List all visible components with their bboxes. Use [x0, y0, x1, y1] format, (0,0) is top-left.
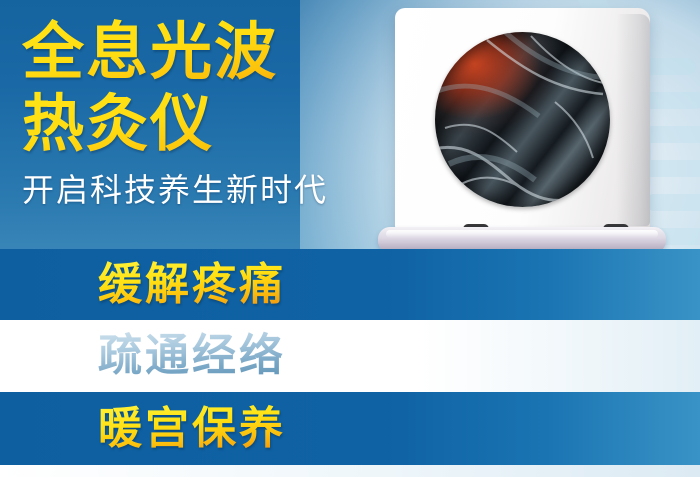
- device-head-side-shading: [616, 14, 650, 226]
- device-head: [395, 8, 650, 230]
- feature-label-3: 暖宫保养: [98, 403, 286, 455]
- headline-block: 全息光波 热灸仪 开启科技养生新时代: [22, 14, 392, 210]
- subtitle: 开启科技养生新时代: [22, 170, 392, 210]
- feature-band-2: 疏通经络: [0, 320, 700, 392]
- emitter-texture-icon: [435, 32, 610, 207]
- feature-label-1: 缓解疼痛: [98, 259, 286, 311]
- title-line-2: 热灸仪: [22, 86, 392, 164]
- bottom-strip: [0, 465, 700, 477]
- feature-band-3: 暖宫保养: [0, 392, 700, 465]
- title-line-1: 全息光波: [22, 14, 392, 92]
- feature-band-1: 缓解疼痛: [0, 249, 700, 320]
- feature-label-2: 疏通经络: [98, 330, 286, 382]
- device-shelf-highlight: [386, 230, 658, 238]
- product-poster: 全息光波 热灸仪 开启科技养生新时代 缓解疼痛 疏通经络 暖宫保养: [0, 0, 700, 477]
- circular-emitter-panel: [435, 32, 610, 207]
